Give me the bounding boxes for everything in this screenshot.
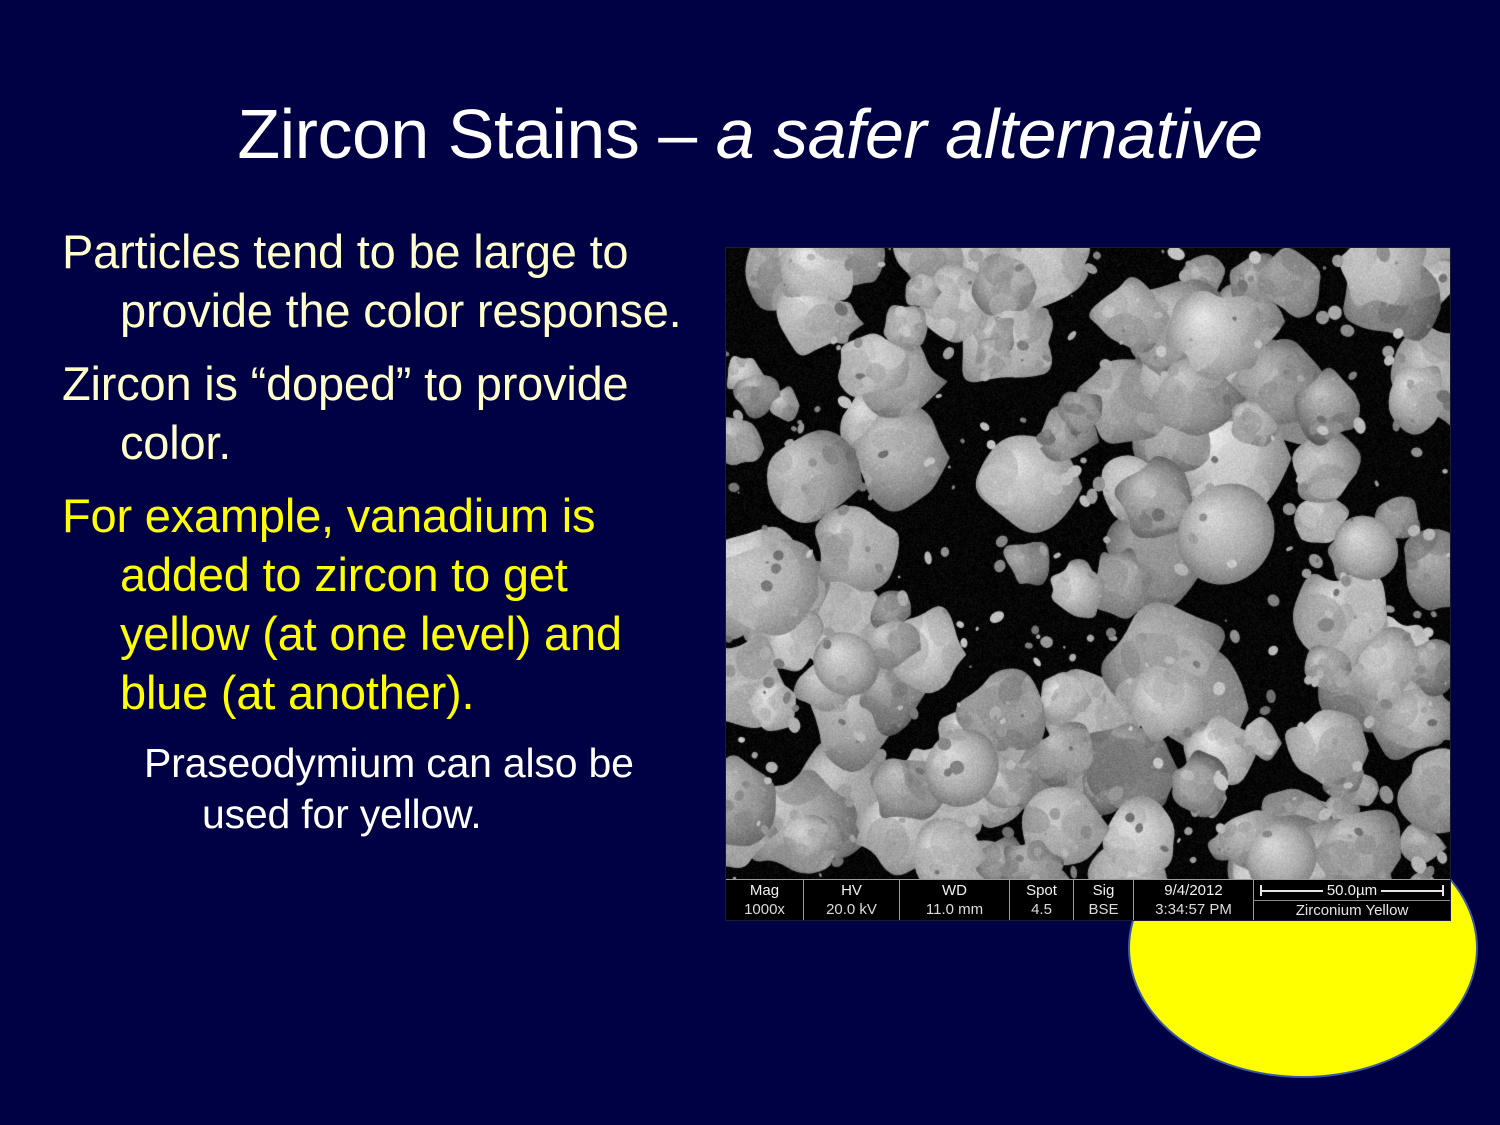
databar-field-hv: HV 20.0 kV (804, 880, 900, 920)
bullet-list: Particles tend to be large to provide th… (62, 222, 687, 854)
bullet-item-2: Zircon is “doped” to provide color. (62, 354, 687, 472)
bullet-item-4: Praseodymium can also be used for yellow… (62, 738, 687, 840)
slide-title-italic: a safer alternative (716, 95, 1263, 173)
sem-databar: Mag 1000x HV 20.0 kV WD 11.0 mm Spot 4.5… (726, 879, 1450, 920)
sem-micrograph-figure: Mag 1000x HV 20.0 kV WD 11.0 mm Spot 4.5… (726, 248, 1450, 920)
databar-spot-header: Spot (1026, 881, 1057, 900)
databar-field-sig: Sig BSE (1074, 880, 1134, 920)
sem-micrograph-image (726, 248, 1450, 880)
scale-bar-line-right (1374, 890, 1444, 892)
scale-bar-label: 50.0µm (1323, 882, 1381, 899)
databar-wd-header: WD (942, 881, 967, 900)
databar-mag-value: 1000x (744, 900, 785, 919)
databar-field-wd: WD 11.0 mm (900, 880, 1010, 920)
databar-field-mag: Mag 1000x (726, 880, 804, 920)
slide-canvas: Zircon Stains – a safer alternative Part… (0, 0, 1500, 1125)
databar-wd-value: 11.0 mm (926, 900, 983, 919)
databar-sig-value: BSE (1088, 900, 1118, 919)
scale-bar-line-left (1260, 890, 1330, 892)
databar-time-value: 3:34:57 PM (1155, 900, 1232, 919)
databar-hv-header: HV (841, 881, 862, 900)
slide-title: Zircon Stains – a safer alternative (0, 92, 1500, 176)
bullet-item-1: Particles tend to be large to provide th… (62, 222, 687, 340)
databar-mag-header: Mag (750, 881, 779, 900)
bullet-item-3: For example, vanadium is added to zircon… (62, 486, 687, 722)
scale-bar-tick-right (1442, 885, 1444, 896)
databar-spot-value: 4.5 (1031, 900, 1052, 919)
databar-field-datetime: 9/4/2012 3:34:57 PM (1134, 880, 1254, 920)
databar-date-value: 9/4/2012 (1164, 881, 1222, 900)
slide-title-regular: Zircon Stains – (237, 95, 715, 173)
databar-scale-section: 50.0µm Zirconium Yellow (1254, 880, 1450, 920)
databar-hv-value: 20.0 kV (826, 900, 877, 919)
sem-sample-label: Zirconium Yellow (1254, 900, 1450, 920)
databar-sig-header: Sig (1093, 881, 1115, 900)
scale-bar-graphic: 50.0µm (1260, 881, 1444, 900)
databar-field-spot: Spot 4.5 (1010, 880, 1074, 920)
